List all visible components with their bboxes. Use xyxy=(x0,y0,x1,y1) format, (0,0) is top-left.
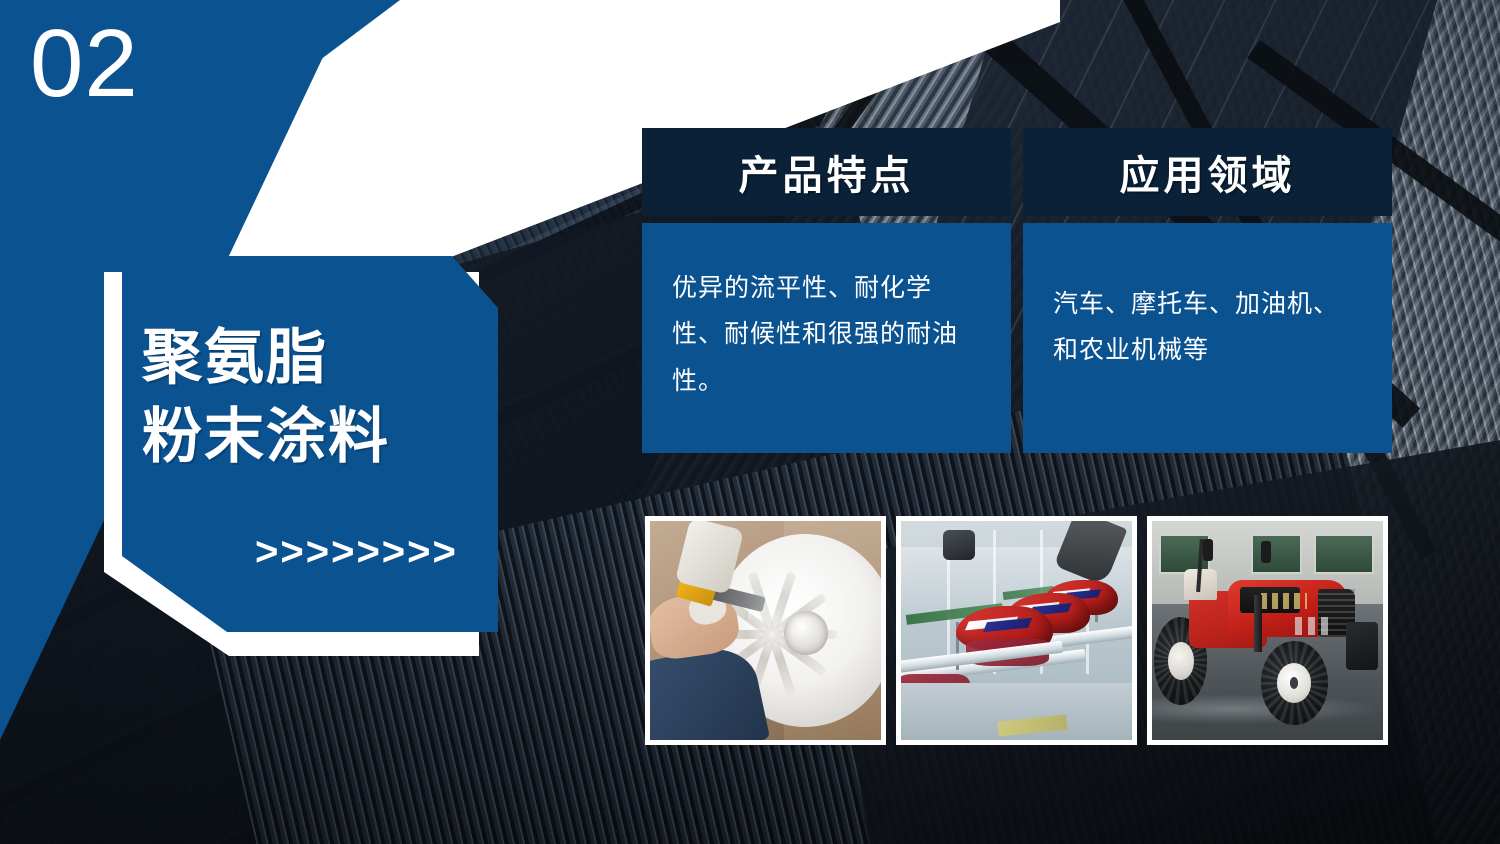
info-cards: 产品特点 优异的流平性、耐化学性、耐候性和很强的耐油性。 应用领域 汽车、摩托车… xyxy=(642,128,1392,453)
card-application-fields: 应用领域 汽车、摩托车、加油机、和农业机械等 xyxy=(1023,128,1392,453)
chevron-arrows-icon: >>>>>>>> xyxy=(255,532,458,572)
photo3-exhaust xyxy=(1254,595,1262,652)
photo3-window xyxy=(1251,534,1302,573)
photo3-front-hitch xyxy=(1346,622,1378,670)
photo-wheel-coating-image xyxy=(650,521,881,740)
card-header-label: 应用领域 xyxy=(1120,143,1296,201)
card-divider xyxy=(642,216,1011,223)
card-body-text: 汽车、摩托车、加油机、和农业机械等 xyxy=(1053,281,1362,374)
photo3-model-number xyxy=(1295,617,1332,635)
photo3-mirror xyxy=(1261,541,1271,563)
card-header-label: 产品特点 xyxy=(739,143,915,201)
card-body-application-fields: 汽车、摩托车、加油机、和农业机械等 xyxy=(1023,223,1392,453)
card-divider xyxy=(1023,216,1392,223)
photo3-mirror xyxy=(1203,539,1213,561)
photo2-spray-nozzle xyxy=(943,530,975,561)
title-line-2: 粉末涂料 xyxy=(142,397,487,476)
photo3-front-wheel xyxy=(1261,641,1328,724)
card-product-features: 产品特点 优异的流平性、耐化学性、耐候性和很强的耐油性。 xyxy=(642,128,1011,453)
photo-tractor-image xyxy=(1152,521,1383,740)
card-body-text: 优异的流平性、耐化学性、耐候性和很强的耐油性。 xyxy=(672,265,981,404)
card-header-application-fields: 应用领域 xyxy=(1023,128,1392,216)
slide-root: 02 聚氨脂 粉末涂料 >>>>>>>> 产品特点 优异的流平性、耐化学性、耐候… xyxy=(0,0,1500,844)
photo-strip xyxy=(645,516,1388,745)
photo-conveyor-tanks-image xyxy=(901,521,1132,740)
photo-tractor xyxy=(1147,516,1388,745)
title-line-1: 聚氨脂 xyxy=(142,318,487,397)
photo3-front-rim xyxy=(1277,663,1312,703)
section-number: 02 xyxy=(30,16,139,112)
photo-wheel-coating xyxy=(645,516,886,745)
card-header-product-features: 产品特点 xyxy=(642,128,1011,216)
page-title: 聚氨脂 粉末涂料 xyxy=(142,318,487,476)
photo3-rear-rim xyxy=(1168,642,1194,681)
photo3-brand-text xyxy=(1261,593,1307,608)
photo3-window xyxy=(1314,534,1374,573)
card-body-product-features: 优异的流平性、耐化学性、耐候性和很强的耐油性。 xyxy=(642,223,1011,453)
photo-conveyor-tanks xyxy=(896,516,1137,745)
